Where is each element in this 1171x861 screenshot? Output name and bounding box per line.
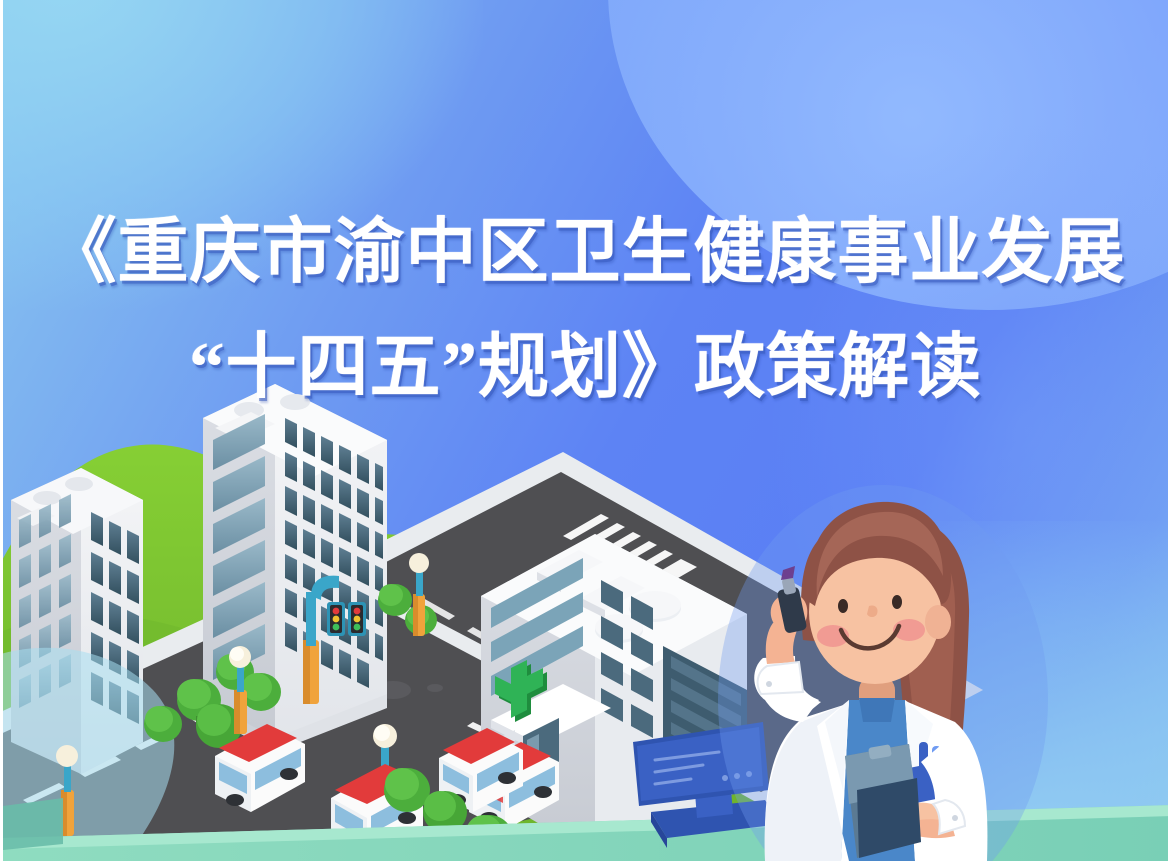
clipboard: [845, 744, 921, 858]
city-illustration: [3, 0, 1168, 861]
poster-canvas: 《重庆市渝中区卫生健康事业发展 “十四五”规划》政策解读: [0, 0, 1171, 861]
doctor-character: [718, 485, 1048, 861]
office-tower-center: [203, 384, 387, 752]
